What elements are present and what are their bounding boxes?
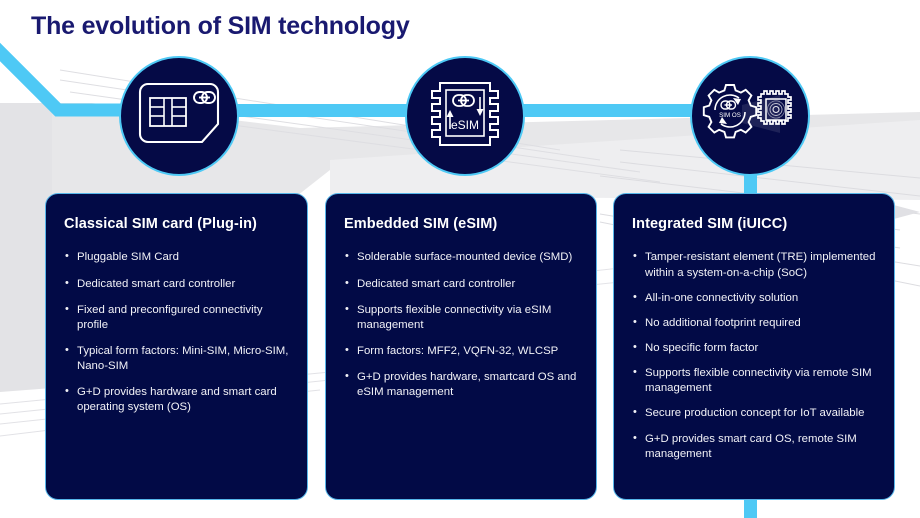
list-item: G+D provides hardware and smart card ope… bbox=[64, 385, 289, 415]
card-bullet-list: Tamper-resistant element (TRE) implement… bbox=[632, 250, 876, 462]
list-item: All-in-one connectivity solution bbox=[632, 291, 876, 306]
list-item: Pluggable SIM Card bbox=[64, 250, 289, 265]
list-item: Fixed and preconfigured connectivity pro… bbox=[64, 303, 289, 333]
card-bullet-list: Pluggable SIM Card Dedicated smart card … bbox=[64, 250, 289, 415]
list-item: Dedicated smart card controller bbox=[64, 277, 289, 292]
card-title: Integrated SIM (iUICC) bbox=[632, 216, 876, 233]
icon-circle-embedded-sim[interactable]: eSIM bbox=[405, 56, 525, 176]
card-integrated-sim[interactable]: Integrated SIM (iUICC) Tamper-resistant … bbox=[613, 193, 895, 500]
list-item: Form factors: MFF2, VQFN-32, WLCSP bbox=[344, 344, 578, 359]
card-bullet-list: Solderable surface-mounted device (SMD) … bbox=[344, 250, 578, 400]
slide-canvas: The evolution of SIM technology bbox=[0, 0, 920, 518]
card-title: Embedded SIM (eSIM) bbox=[344, 216, 578, 233]
svg-text:eSIM: eSIM bbox=[451, 118, 479, 132]
list-item: Secure production concept for IoT availa… bbox=[632, 406, 876, 421]
icon-circle-integrated-sim[interactable]: SIM OS bbox=[690, 56, 810, 176]
list-item: G+D provides smart card OS, remote SIM m… bbox=[632, 432, 876, 462]
list-item: No specific form factor bbox=[632, 341, 876, 356]
list-item: Dedicated smart card controller bbox=[344, 277, 578, 292]
sim-card-icon bbox=[136, 82, 222, 151]
list-item: Solderable surface-mounted device (SMD) bbox=[344, 250, 578, 265]
svg-text:SIM OS: SIM OS bbox=[719, 112, 741, 119]
card-title: Classical SIM card (Plug-in) bbox=[64, 216, 289, 233]
esim-chip-icon: eSIM bbox=[426, 77, 504, 156]
icon-circle-classical-sim[interactable] bbox=[119, 56, 239, 176]
card-embedded-sim[interactable]: Embedded SIM (eSIM) Solderable surface-m… bbox=[325, 193, 597, 500]
sim-os-gear-and-soc-icon: SIM OS bbox=[702, 83, 798, 150]
list-item: G+D provides hardware, smartcard OS and … bbox=[344, 370, 578, 400]
list-item: Typical form factors: Mini-SIM, Micro-SI… bbox=[64, 344, 289, 374]
list-item: Tamper-resistant element (TRE) implement… bbox=[632, 250, 876, 280]
page-title: The evolution of SIM technology bbox=[31, 12, 410, 41]
card-classical-sim[interactable]: Classical SIM card (Plug-in) Pluggable S… bbox=[45, 193, 308, 500]
list-item: Supports flexible connectivity via eSIM … bbox=[344, 303, 578, 333]
list-item: Supports flexible connectivity via remot… bbox=[632, 366, 876, 396]
list-item: No additional footprint required bbox=[632, 316, 876, 331]
